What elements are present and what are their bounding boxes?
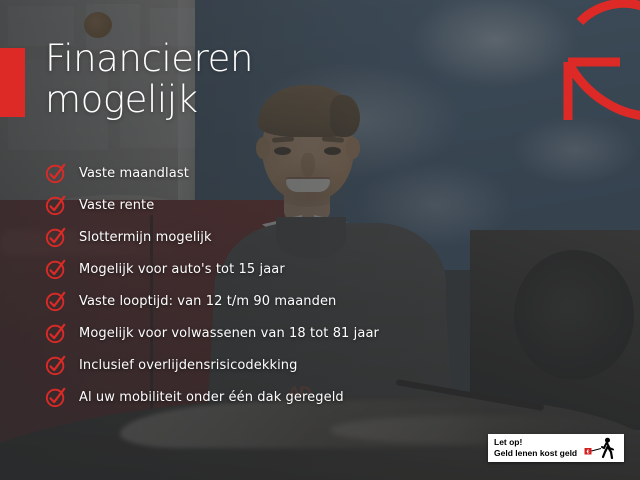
- list-item: Slottermijn mogelijk: [45, 221, 379, 253]
- list-item: Al uw mobiliteit onder één dak geregeld: [45, 381, 379, 413]
- list-item-label: Vaste maandlast: [79, 166, 189, 181]
- check-circle-icon: [45, 354, 67, 376]
- list-item: Vaste rente: [45, 189, 379, 221]
- list-item: Vaste maandlast: [45, 157, 379, 189]
- list-item: Mogelijk voor volwassenen van 18 tot 81 …: [45, 317, 379, 349]
- list-item-label: Inclusief overlijdensrisicodekking: [79, 358, 298, 373]
- list-item-label: Mogelijk voor auto's tot 15 jaar: [79, 262, 285, 277]
- list-item-label: Slottermijn mogelijk: [79, 230, 212, 245]
- red-square-accent: [0, 48, 25, 117]
- list-item-label: Al uw mobiliteit onder één dak geregeld: [79, 390, 344, 405]
- svg-text:€: €: [587, 449, 590, 455]
- list-item-label: Vaste looptijd: van 12 t/m 90 maanden: [79, 294, 336, 309]
- list-item-label: Mogelijk voor volwassenen van 18 tot 81 …: [79, 326, 379, 341]
- check-circle-icon: [45, 258, 67, 280]
- financing-promo-banner: AD: [0, 0, 640, 480]
- warning-text-block: Let op! Geld lenen kost geld: [494, 437, 584, 459]
- check-circle-icon: [45, 322, 67, 344]
- check-circle-icon: [45, 386, 67, 408]
- check-circle-icon: [45, 226, 67, 248]
- credit-warning-badge: Let op! Geld lenen kost geld €: [488, 434, 624, 462]
- list-item: Mogelijk voor auto's tot 15 jaar: [45, 253, 379, 285]
- list-item: Inclusief overlijdensrisicodekking: [45, 349, 379, 381]
- check-circle-icon: [45, 290, 67, 312]
- check-circle-icon: [45, 194, 67, 216]
- list-item: Vaste looptijd: van 12 t/m 90 maanden: [45, 285, 379, 317]
- check-circle-icon: [45, 162, 67, 184]
- banner-content: Financieren mogelijk Vaste maandlast Vas…: [45, 38, 640, 480]
- warning-line-2: Geld lenen kost geld: [494, 448, 584, 459]
- list-item-label: Vaste rente: [79, 198, 154, 213]
- person-pulling-debt-block-icon: €: [584, 437, 618, 459]
- warning-line-1: Let op!: [494, 437, 584, 448]
- feature-list: Vaste maandlast Vaste rente Slottermijn …: [45, 157, 379, 413]
- page-title: Financieren mogelijk: [45, 38, 640, 121]
